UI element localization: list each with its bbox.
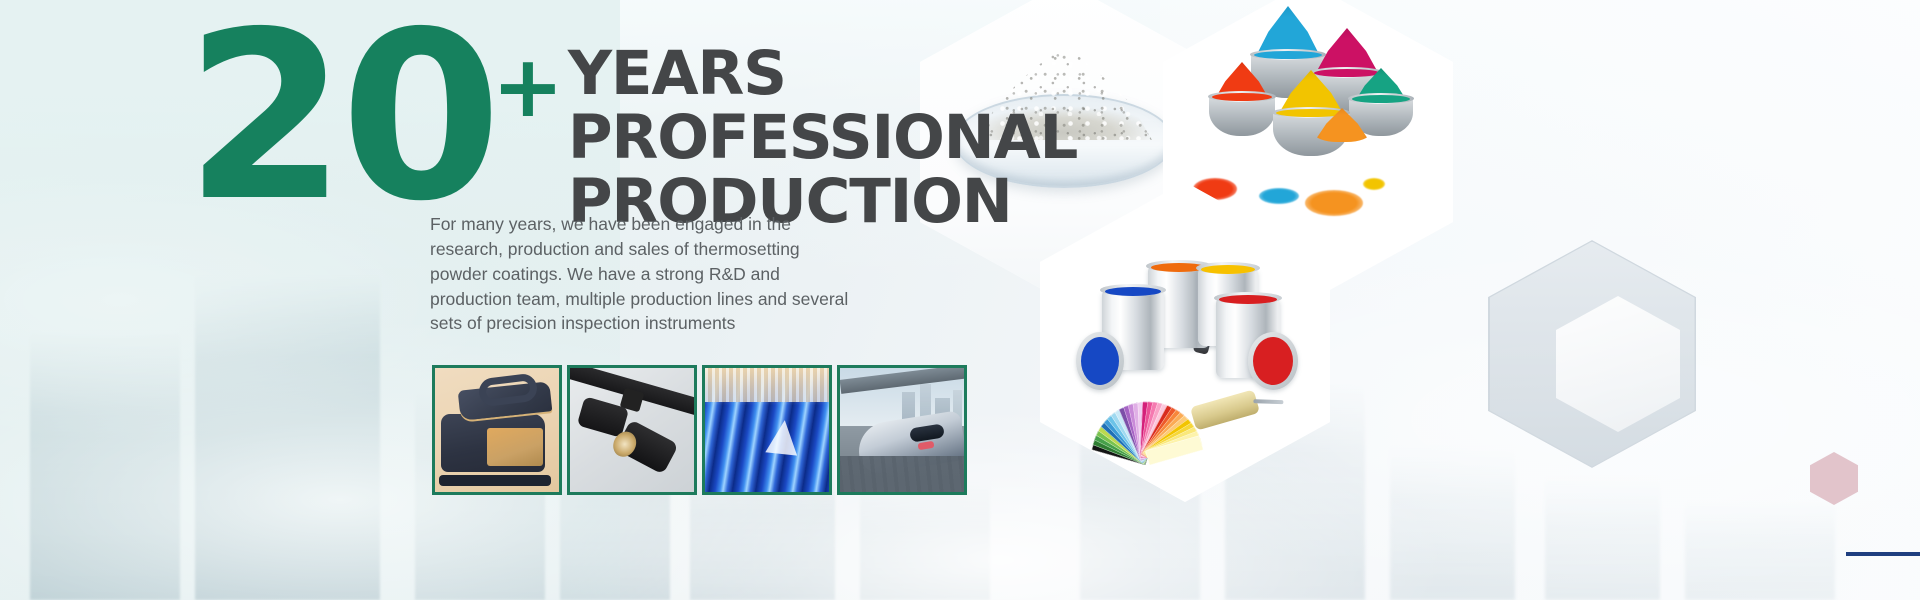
description-paragraph: For many years, we have been engaged in … [430,212,850,336]
thumbnail-track-lights[interactable] [567,365,697,495]
page-title: YEARS PROFESSIONAL PRODUCTION [568,42,1298,234]
product-thumbnail-strip [432,365,967,495]
high-speed-train-photo [840,368,964,492]
plus-symbol: + [492,44,564,130]
navy-accent-line [1846,552,1920,556]
blue-roofing-photo [705,368,829,492]
thumbnail-high-speed-train[interactable] [837,365,967,495]
track-lights-photo [570,368,694,492]
headline-block: 20 + YEARS PROFESSIONAL PRODUCTION [185,18,1298,234]
thumbnail-blue-roofing-sheets[interactable] [702,365,832,495]
promo-banner: 20 + YEARS PROFESSIONAL PRODUCTION For m… [0,0,1920,600]
steam-iron-photo [435,368,559,492]
years-number: 20 [185,18,496,218]
thumbnail-steam-iron[interactable] [432,365,562,495]
